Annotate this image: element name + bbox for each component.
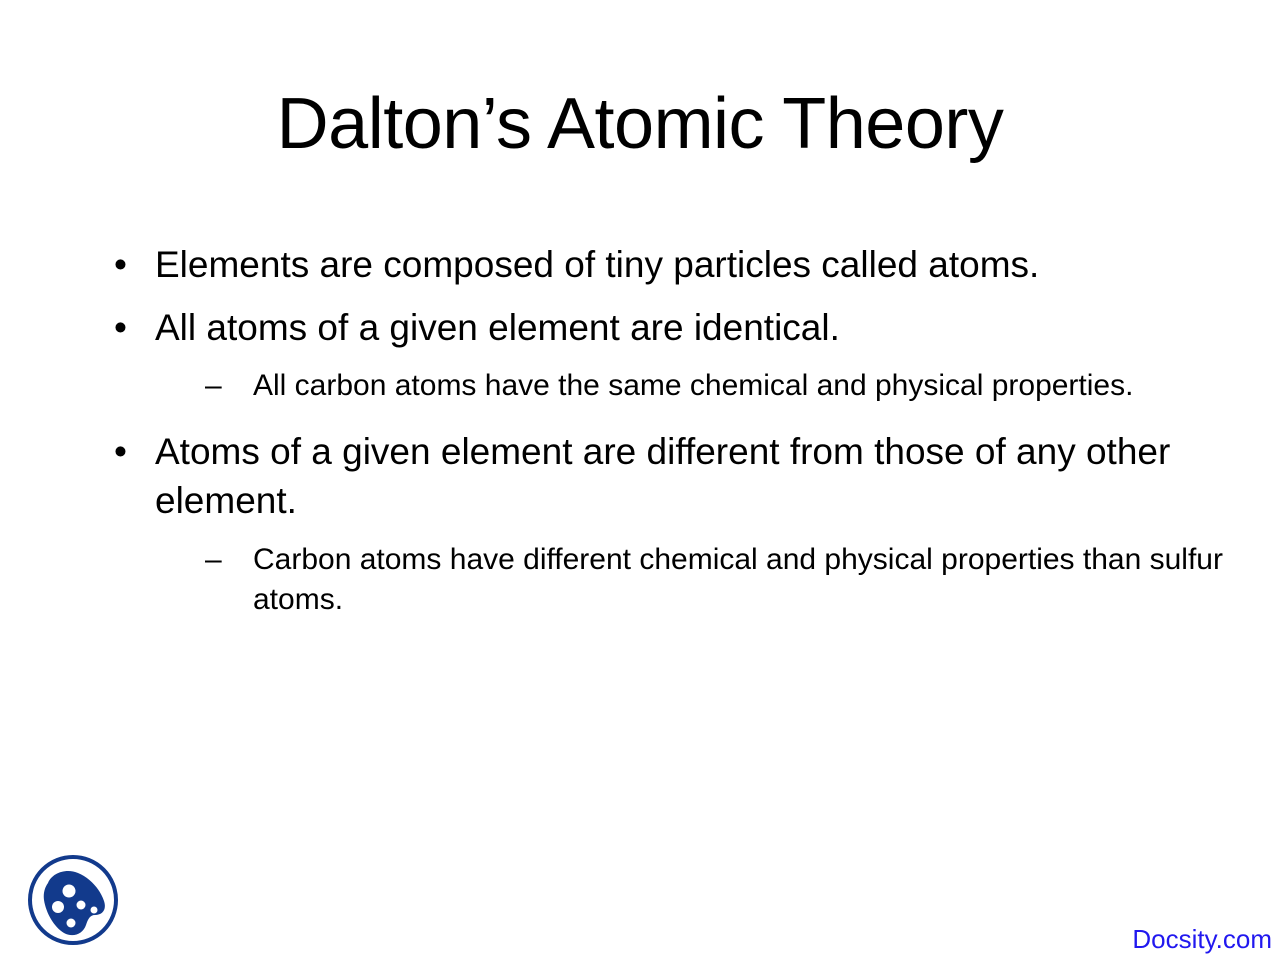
bullet-marker-icon: • xyxy=(114,427,127,476)
dash-marker-icon: – xyxy=(205,540,222,581)
docsity-watermark: Docsity.com xyxy=(1132,926,1272,952)
list-item-sub: – All carbon atoms have the same chemica… xyxy=(100,366,1250,407)
list-item-sub-label: Carbon atoms have different chemical and… xyxy=(253,543,1223,617)
list-item-sub: – Carbon atoms have different chemical a… xyxy=(100,540,1250,622)
slide-canvas: Dalton’s Atomic Theory • Elements are co… xyxy=(0,0,1280,960)
bullet-list: • Elements are composed of tiny particle… xyxy=(100,240,1250,631)
dash-marker-icon: – xyxy=(205,366,222,407)
page-title: Dalton’s Atomic Theory xyxy=(0,84,1280,165)
bullet-marker-icon: • xyxy=(114,303,127,352)
bullet-marker-icon: • xyxy=(114,240,127,289)
list-item: • Atoms of a given element are different… xyxy=(100,427,1250,525)
list-item: • All atoms of a given element are ident… xyxy=(100,303,1250,352)
list-spacer xyxy=(100,417,1250,427)
list-item: • Elements are composed of tiny particle… xyxy=(100,240,1250,289)
list-item-sub-label: All carbon atoms have the same chemical … xyxy=(253,369,1133,402)
list-item-label: Atoms of a given element are different f… xyxy=(155,431,1170,521)
docsity-logo-icon xyxy=(26,853,120,947)
list-item-label: All atoms of a given element are identic… xyxy=(155,307,840,348)
list-item-label: Elements are composed of tiny particles … xyxy=(155,244,1039,285)
